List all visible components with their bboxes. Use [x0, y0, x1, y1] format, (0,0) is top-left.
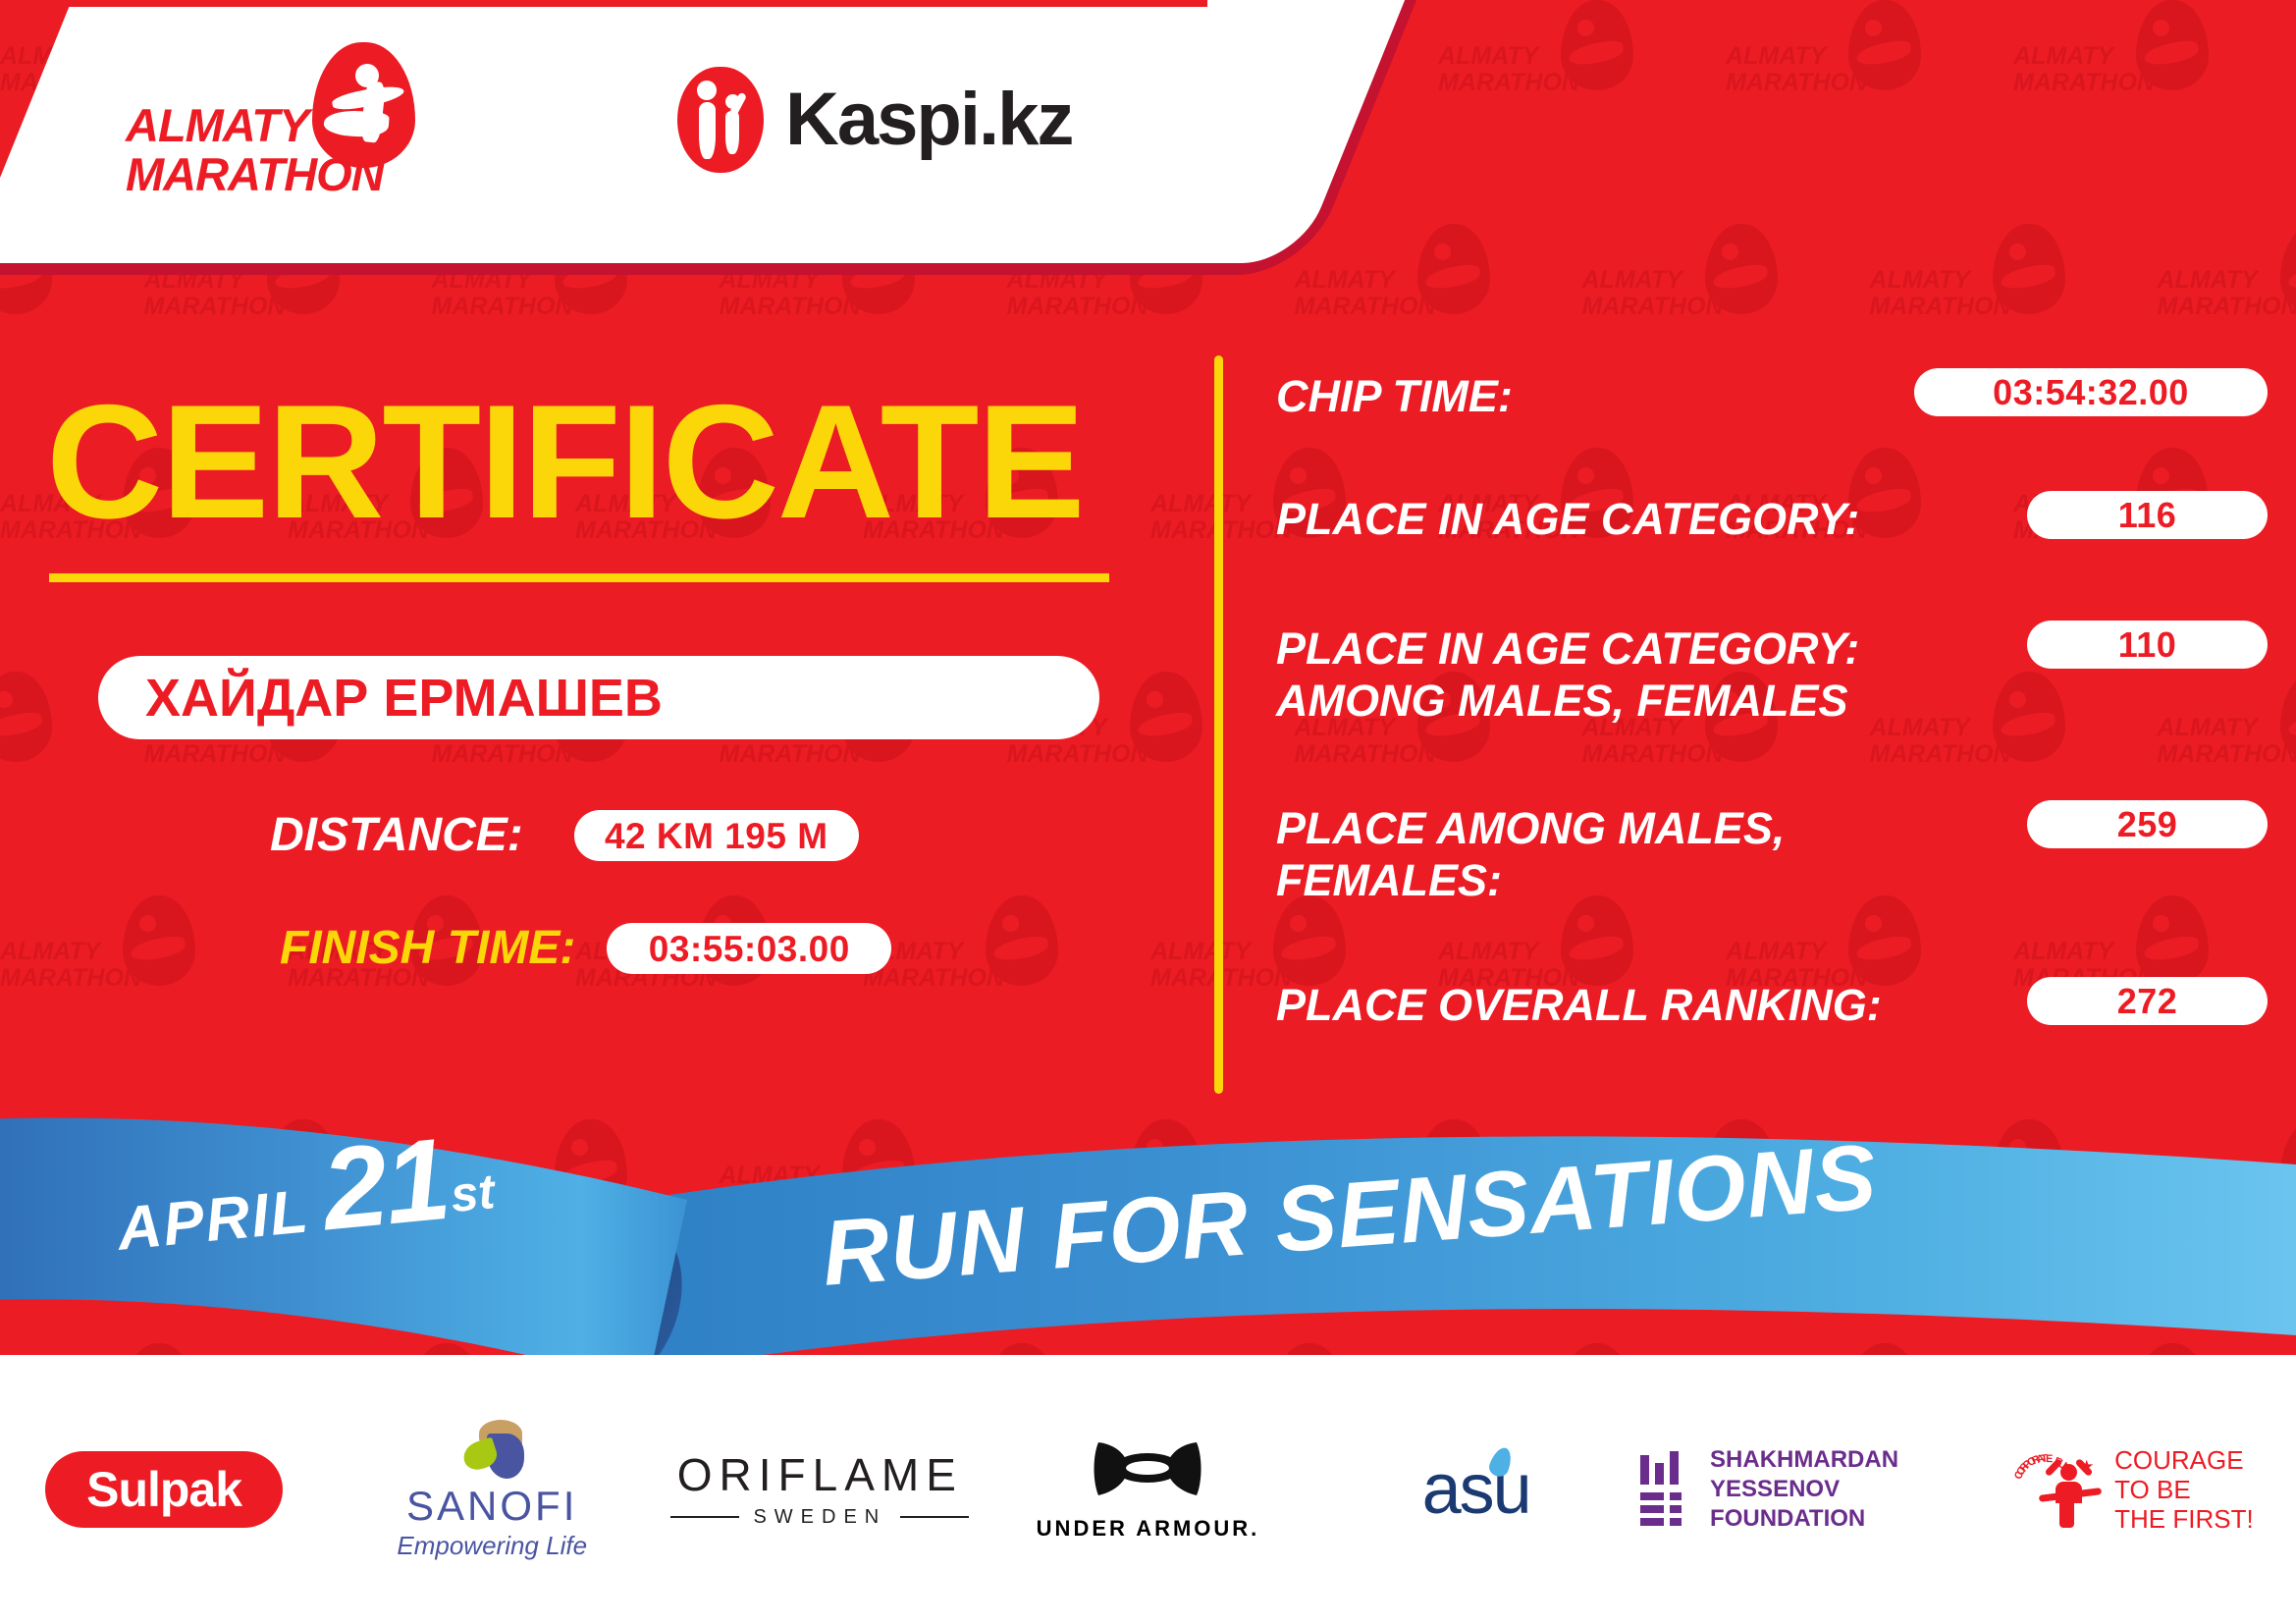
sanofi-icon	[455, 1420, 528, 1481]
stat-label: PLACE IN AGE CATEGORY: AMONG MALES, FEMA…	[1276, 623, 1859, 727]
finish-time-row: FINISH TIME: 03:55:03.00	[280, 923, 891, 974]
courage-line-1: COURAGE	[2114, 1445, 2254, 1475]
watermark-drop-icon	[1561, 0, 1633, 90]
watermark-drop-icon	[1273, 1343, 1346, 1355]
sponsor-courage-fund: CORPORATE FUND ★ COURAGE TO BE THE FIRST…	[1968, 1406, 2296, 1573]
stats-column: CHIP TIME: 03:54:32.00 PLACE IN AGE CATE…	[1276, 368, 2268, 1095]
watermark-text: ALMATYMARATHON	[2013, 43, 2139, 96]
event-day-suffix: st	[449, 1166, 497, 1219]
sponsor-sanofi: SANOFI Empowering Life	[328, 1406, 656, 1573]
watermark-text: ALMATYMARATHON	[1726, 43, 1851, 96]
logo-line-1: ALMATY	[126, 101, 384, 150]
sponsor-bar: Sulpak SANOFI Empowering Life ORIFLAME S…	[0, 1355, 2296, 1624]
logo-line-2: MARATHON	[126, 150, 384, 199]
yessenov-logo: SHAKHMARDAN YESSENOV FOUNDATION	[1640, 1445, 1968, 1534]
oriflame-country: SWEDEN	[753, 1506, 886, 1528]
sulpak-logo: Sulpak	[45, 1451, 283, 1528]
sponsor-oriflame: ORIFLAME SWEDEN	[656, 1406, 984, 1573]
stat-label-line-2: FEMALES:	[1276, 854, 1785, 906]
oriflame-wordmark: ORIFLAME	[677, 1451, 963, 1498]
watermark-tile: ALMATYMARATHON	[2013, 1343, 2215, 1355]
stat-label: PLACE IN AGE CATEGORY:	[1276, 493, 1859, 545]
yessenov-wordmark: SHAKHMARDAN YESSENOV FOUNDATION	[1710, 1445, 1968, 1534]
sanofi-tagline: Empowering Life	[397, 1531, 587, 1560]
sanofi-wordmark: SANOFI	[406, 1485, 577, 1528]
title-underline	[49, 573, 1109, 582]
under-armour-wordmark: UNDER ARMOUR.	[1037, 1517, 1260, 1541]
distance-row: DISTANCE: 42 KM 195 M	[270, 810, 859, 861]
stat-value: 03:54:32.00	[1914, 368, 2268, 416]
stat-label-line-1: PLACE AMONG MALES,	[1276, 803, 1785, 853]
watermark-drop-icon	[2280, 224, 2296, 314]
asu-wordmark: asu	[1422, 1450, 1530, 1529]
stat-label: PLACE AMONG MALES, FEMALES:	[1276, 802, 1785, 906]
divider-line-right	[900, 1516, 969, 1518]
almaty-marathon-wordmark: ALMATY MARATHON	[126, 101, 384, 199]
runner-name: ХАЙДАР ЕРМАШЕВ	[98, 671, 663, 726]
kaspi-logo: Kaspi.kz	[677, 61, 1090, 179]
watermark-tile: ALMATYMARATHON	[1726, 0, 1927, 130]
sponsor-asu: asu	[1312, 1406, 1640, 1573]
stat-value: 116	[2027, 491, 2268, 539]
page-title: CERTIFICATE	[46, 381, 1101, 543]
stat-label: PLACE OVERALL RANKING:	[1276, 979, 1882, 1031]
stat-label-line-1: PLACE IN AGE CATEGORY:	[1276, 623, 1859, 674]
watermark-tile: ALMATYMARATHON	[1582, 224, 1784, 353]
distance-value: 42 KM 195 M	[574, 810, 859, 861]
courage-fund-logo: CORPORATE FUND ★ COURAGE TO BE THE FIRST…	[2010, 1444, 2254, 1535]
watermark-tile: ALMATYMARATHON	[2158, 224, 2296, 353]
watermark-tile: ALMATYMARATHON	[2013, 0, 2215, 130]
courage-runner-icon: CORPORATE FUND ★	[2010, 1444, 2101, 1535]
yessenov-line-2: FOUNDATION	[1710, 1504, 1968, 1534]
kaspi-people-icon	[677, 67, 764, 173]
yessenov-line-1: SHAKHMARDAN YESSENOV	[1710, 1445, 1968, 1504]
watermark-tile: ALMATYMARATHON	[1438, 0, 1639, 130]
asu-logo: asu	[1422, 1453, 1530, 1526]
watermark-drop-icon	[1993, 224, 2065, 314]
finish-time-label: FINISH TIME:	[280, 923, 575, 974]
top-red-strip	[0, 0, 1207, 7]
watermark-tile: ALMATYMARATHON	[1438, 1343, 1639, 1355]
watermark-drop-icon	[1705, 224, 1778, 314]
watermark-text: ALMATYMARATHON	[1295, 267, 1420, 320]
watermark-drop-icon	[1417, 224, 1490, 314]
vertical-divider	[1214, 355, 1223, 1094]
almaty-marathon-logo: ALMATY MARATHON	[126, 54, 450, 187]
distance-label: DISTANCE:	[270, 810, 523, 861]
watermark-drop-icon	[1848, 1343, 1921, 1355]
watermark-text: ALMATYMARATHON	[1870, 267, 1996, 320]
divider-line-left	[670, 1516, 739, 1518]
stat-label-line-1: CHIP TIME:	[1276, 371, 1513, 421]
watermark-text: ALMATYMARATHON	[1582, 267, 1708, 320]
watermark-drop-icon	[2280, 1119, 2296, 1210]
watermark-text: ALMATYMARATHON	[2158, 267, 2283, 320]
oriflame-sub-row: SWEDEN	[656, 1506, 984, 1528]
stat-value: 272	[2027, 977, 2268, 1025]
certificate-canvas: ALMATYMARATHONALMATYMARATHONALMATYMARATH…	[0, 0, 2296, 1624]
watermark-text: ALMATYMARATHON	[1438, 43, 1564, 96]
finish-time-value: 03:55:03.00	[607, 923, 891, 974]
stat-label-line-2: AMONG MALES, FEMALES	[1276, 675, 1859, 727]
stat-label-line-1: PLACE IN AGE CATEGORY:	[1276, 494, 1859, 544]
watermark-drop-icon	[2136, 0, 2209, 90]
sulpak-wordmark: Sulpak	[86, 1463, 241, 1516]
stat-label: CHIP TIME:	[1276, 370, 1513, 422]
event-day: 21	[318, 1125, 453, 1245]
yessenov-bars-icon	[1640, 1451, 1688, 1528]
watermark-text: ALMATYMARATHON	[2158, 1163, 2283, 1216]
stat-value: 110	[2027, 621, 2268, 669]
sponsor-yessenov-foundation: SHAKHMARDAN YESSENOV FOUNDATION	[1640, 1406, 1968, 1573]
sponsor-under-armour: UNDER ARMOUR.	[984, 1406, 1311, 1573]
stat-label-line-1: PLACE OVERALL RANKING:	[1276, 980, 1882, 1030]
stat-value: 259	[2027, 800, 2268, 848]
watermark-drop-icon	[1848, 0, 1921, 90]
courage-line-3: THE FIRST!	[2114, 1504, 2254, 1534]
courage-fund-wordmark: COURAGE TO BE THE FIRST!	[2114, 1445, 2254, 1534]
watermark-tile: ALMATYMARATHON	[2158, 1119, 2296, 1249]
watermark-tile: ALMATYMARATHON	[1870, 224, 2071, 353]
under-armour-icon	[1089, 1438, 1206, 1509]
watermark-tile: ALMATYMARATHON	[1870, 1119, 2071, 1249]
courage-line-2: TO BE	[2114, 1475, 2254, 1504]
watermark-drop-icon	[1993, 1119, 2065, 1210]
runner-name-field: ХАЙДАР ЕРМАШЕВ	[98, 656, 1099, 739]
watermark-drop-icon	[2136, 1343, 2209, 1355]
watermark-drop-icon	[2280, 672, 2296, 762]
watermark-tile: ALMATYMARATHON	[1726, 1343, 1927, 1355]
watermark-text: ALMATYMARATHON	[1870, 1163, 1996, 1216]
sponsor-sulpak: Sulpak	[0, 1406, 328, 1573]
kaspi-wordmark: Kaspi.kz	[785, 81, 1072, 159]
watermark-drop-icon	[1561, 1343, 1633, 1355]
watermark-tile: ALMATYMARATHON	[1295, 224, 1496, 353]
